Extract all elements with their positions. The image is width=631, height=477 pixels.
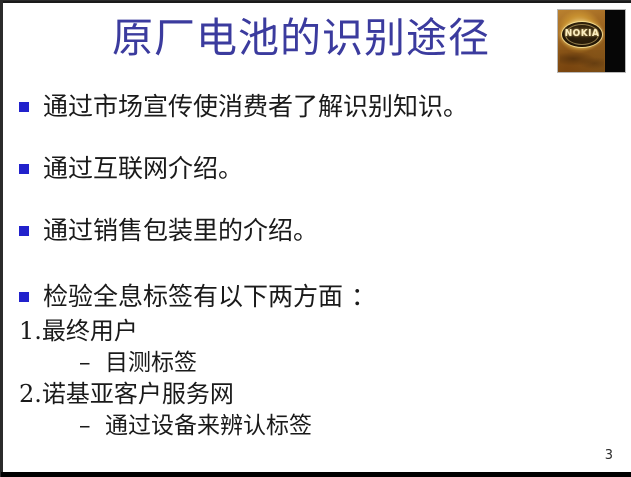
dash-icon: – bbox=[79, 348, 105, 378]
hologram-foil-icon: NOKIA bbox=[558, 10, 605, 72]
bullet-item-4-label: 检验全息标签有以下两方面 ： bbox=[43, 281, 376, 313]
sub-item-1-label: 目测标签 bbox=[105, 350, 197, 376]
bullet-item-3: 通过销售包装里的介绍。 bbox=[19, 215, 318, 247]
nokia-wordmark: NOKIA bbox=[562, 29, 602, 40]
slide-top-border bbox=[1, 1, 631, 3]
bullet-item-1-label: 通过市场宣传使消费者了解识别知识。 bbox=[43, 91, 468, 123]
image-black-strip bbox=[605, 10, 625, 72]
slide-title: 原厂电池的识别途径 bbox=[61, 13, 541, 63]
sub-item-2: –通过设备来辨认标签 bbox=[79, 411, 312, 441]
numbered-item-1: 1.最终用户 bbox=[19, 316, 138, 346]
square-bullet-icon bbox=[19, 292, 29, 302]
nokia-oval-badge: NOKIA bbox=[562, 22, 602, 47]
square-bullet-icon bbox=[19, 164, 29, 174]
presentation-slide: 原厂电池的识别途径 NOKIA 通过市场宣传使消费者了解识别知识。 通过互联网介… bbox=[0, 0, 631, 477]
slide-page-number: 3 bbox=[605, 448, 613, 463]
slide-left-border bbox=[1, 1, 3, 477]
bullet-item-4: 检验全息标签有以下两方面 ： bbox=[19, 281, 376, 313]
dash-icon: – bbox=[79, 411, 105, 441]
slide-bottom-border bbox=[1, 472, 631, 477]
square-bullet-icon bbox=[19, 102, 29, 112]
numbered-item-2: 2.诺基亚客户服务网 bbox=[19, 379, 234, 409]
sub-item-1: –目测标签 bbox=[79, 348, 197, 378]
bullet-item-1: 通过市场宣传使消费者了解识别知识。 bbox=[19, 91, 468, 123]
bullet-item-3-label: 通过销售包装里的介绍。 bbox=[43, 215, 318, 247]
sub-item-2-label: 通过设备来辨认标签 bbox=[105, 413, 312, 439]
bullet-item-2: 通过互联网介绍。 bbox=[19, 153, 243, 185]
bullet-item-2-label: 通过互联网介绍。 bbox=[43, 153, 243, 185]
square-bullet-icon bbox=[19, 226, 29, 236]
nokia-hologram-image: NOKIA bbox=[557, 9, 626, 73]
